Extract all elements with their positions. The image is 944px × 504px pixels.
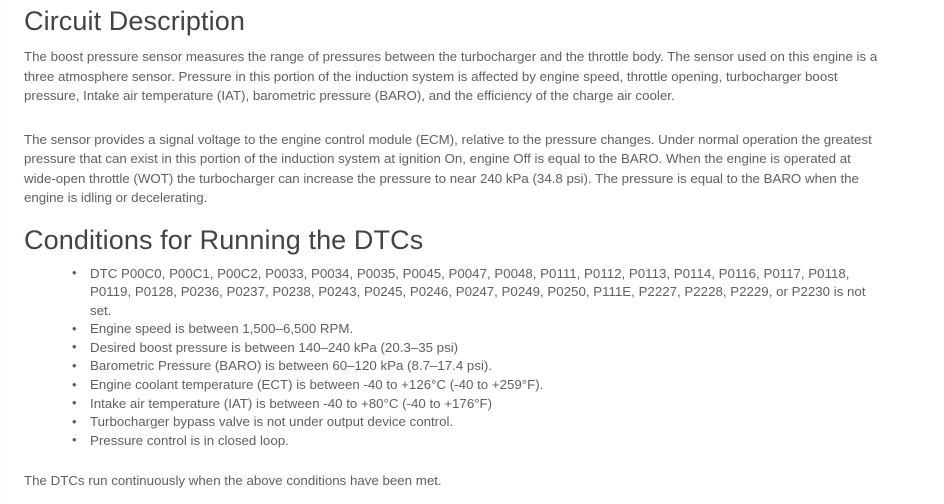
list-item: Barometric Pressure (BARO) is between 60…: [70, 357, 884, 376]
list-item: Pressure control is in closed loop.: [70, 432, 884, 451]
list-item: Engine speed is between 1,500–6,500 RPM.: [70, 320, 884, 339]
list-item: Intake air temperature (IAT) is between …: [70, 395, 884, 414]
section-title-conditions-for-running-the-dtcs: Conditions for Running the DTCs: [24, 208, 884, 259]
paragraph-circuit-description-1: The boost pressure sensor measures the r…: [24, 47, 880, 106]
left-margin-rule: [6, 0, 7, 504]
paragraph-dtc-run-condition: The DTCs run continuously when the above…: [24, 471, 880, 491]
document-page: Circuit Description The boost pressure s…: [0, 0, 944, 504]
list-item: DTC P00C0, P00C1, P00C2, P0033, P0034, P…: [70, 265, 884, 321]
list-item: Desired boost pressure is between 140–24…: [70, 339, 884, 358]
conditions-list: DTC P00C0, P00C1, P00C2, P0033, P0034, P…: [24, 265, 884, 451]
page-title-circuit-description: Circuit Description: [24, 0, 884, 40]
list-item: Turbocharger bypass valve is not under o…: [70, 413, 884, 432]
list-item: Engine coolant temperature (ECT) is betw…: [70, 376, 884, 395]
paragraph-circuit-description-2: The sensor provides a signal voltage to …: [24, 130, 880, 208]
